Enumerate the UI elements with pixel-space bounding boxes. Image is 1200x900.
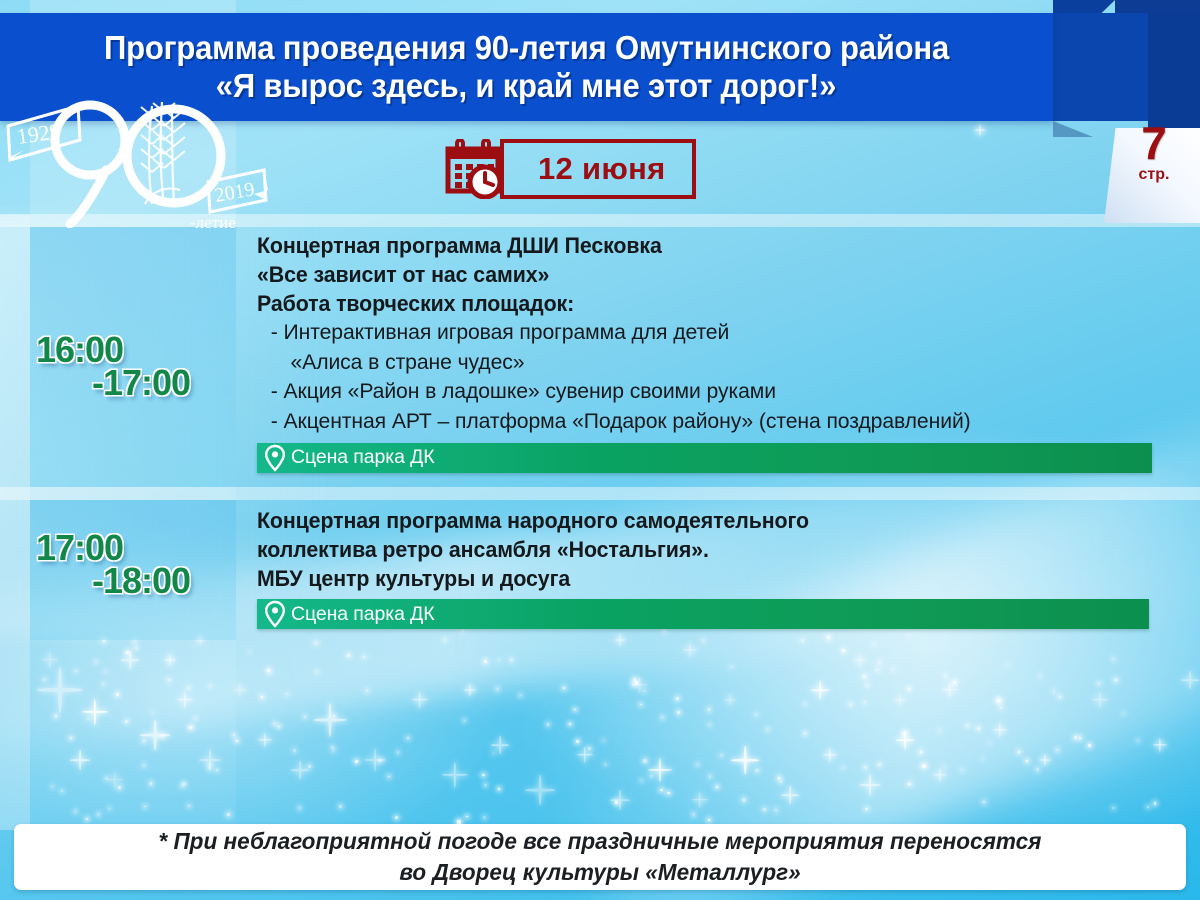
event-line: МБУ центр культуры и досуга [257, 564, 1149, 593]
banner-shadow [1053, 121, 1093, 137]
event-line: Концертная программа ДШИ Песковка [257, 231, 1149, 260]
calendar-clock-icon [444, 139, 508, 199]
event-list-item: - Акцентная АРТ – платформа «Подарок рай… [257, 407, 1163, 437]
time-range: 17:00 -18:00 [30, 530, 236, 599]
date-text: 12 июня [538, 151, 666, 187]
title-line-2: «Я вырос здесь, и край мне этот дорог!» [216, 67, 836, 105]
map-pin-icon [262, 443, 288, 473]
page-number: 7 [1114, 120, 1194, 166]
anniversary-90-logo: 1929 2019 -летие [2, 78, 272, 228]
event-list-item: - Акция «Район в ладошке» сувенир своими… [257, 377, 1163, 407]
row-separator [0, 487, 1200, 500]
event-content: Концертная программа народного самодеяте… [257, 506, 1177, 629]
venue-text: Сцена парка ДК [291, 446, 435, 469]
banner-ribbon-side [1053, 13, 1148, 121]
page-number-label: стр. [1114, 166, 1194, 184]
schedule-row: 16:00 -17:00 Концертная программа ДШИ Пе… [0, 227, 1200, 487]
logo-suffix: -летие [190, 213, 236, 228]
event-line: «Все зависит от нас самих» [257, 260, 1149, 289]
poster-root: Программа проведения 90-летия Омутнинско… [0, 0, 1200, 900]
schedule-row: 17:00 -18:00 Концертная программа народн… [0, 500, 1200, 645]
event-line: коллектива ретро ансамбля «Ностальгия». [257, 535, 1149, 564]
title-line-1: Программа проведения 90-летия Омутнинско… [104, 29, 949, 67]
event-line: Работа творческих площадок: [257, 289, 1149, 318]
time-end: -17:00 [92, 365, 236, 401]
event-list-item: - Интерактивная игровая программа для де… [257, 318, 1163, 348]
time-end: -18:00 [92, 563, 236, 599]
event-line: Концертная программа народного самодеяте… [257, 506, 1149, 535]
event-content: Концертная программа ДШИ Песковка «Все з… [257, 231, 1177, 473]
time-range: 16:00 -17:00 [30, 332, 236, 401]
footer-line-2: во Дворец культуры «Металлург» [399, 857, 800, 888]
footer-note: * При неблагоприятной погоде все праздни… [14, 824, 1186, 890]
date-box: 12 июня [500, 139, 696, 199]
footer-line-1: * При неблагоприятной погоде все праздни… [158, 826, 1041, 857]
date-badge: 12 июня [444, 139, 696, 199]
venue-bar: Сцена парка ДК [257, 599, 1149, 629]
event-list-item: «Алиса в стране чудес» [257, 348, 1163, 378]
venue-text: Сцена парка ДК [291, 603, 435, 626]
venue-bar: Сцена парка ДК [257, 443, 1152, 473]
map-pin-icon [262, 599, 288, 629]
